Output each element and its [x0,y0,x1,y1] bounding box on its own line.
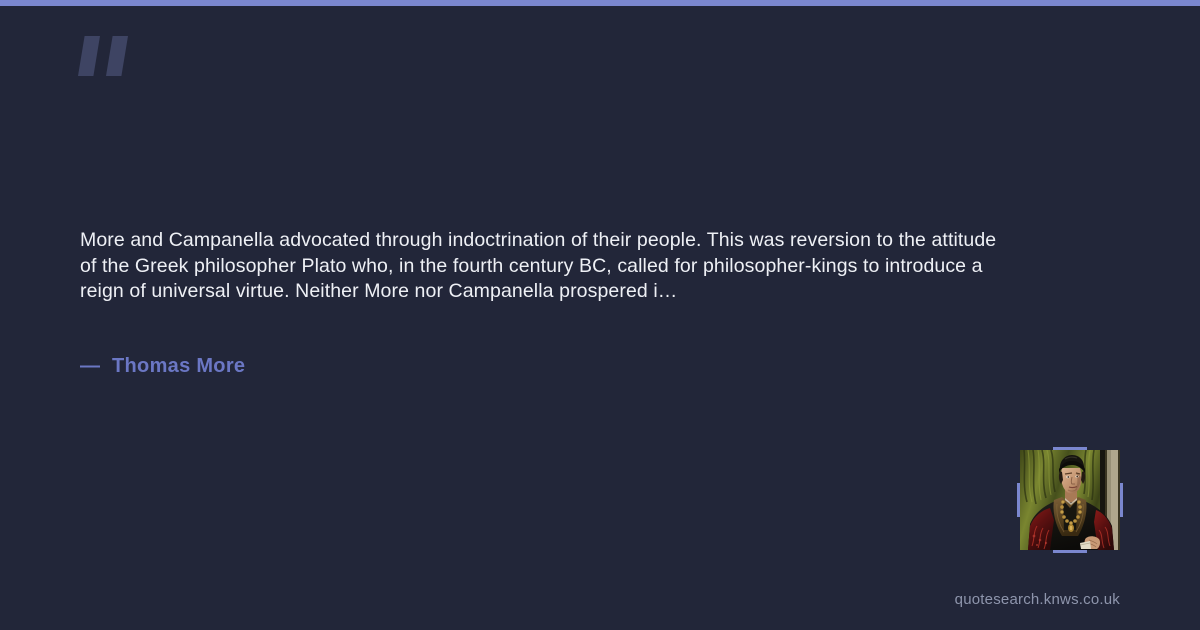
author-portrait-frame [1020,450,1120,550]
quote-wedge-left [78,36,100,76]
quotation-mark-icon [78,28,148,88]
quote-text: More and Campanella advocated through in… [80,228,1000,305]
quote-wedge-right [106,36,128,76]
quote-author-attribution: — Thomas More [80,355,245,378]
top-accent-bar [0,0,1200,6]
frame-accent-right [1120,483,1123,517]
frame-accent-bottom [1053,550,1087,553]
site-url-label: quotesearch.knws.co.uk [955,591,1120,608]
author-portrait-image [1020,450,1120,550]
